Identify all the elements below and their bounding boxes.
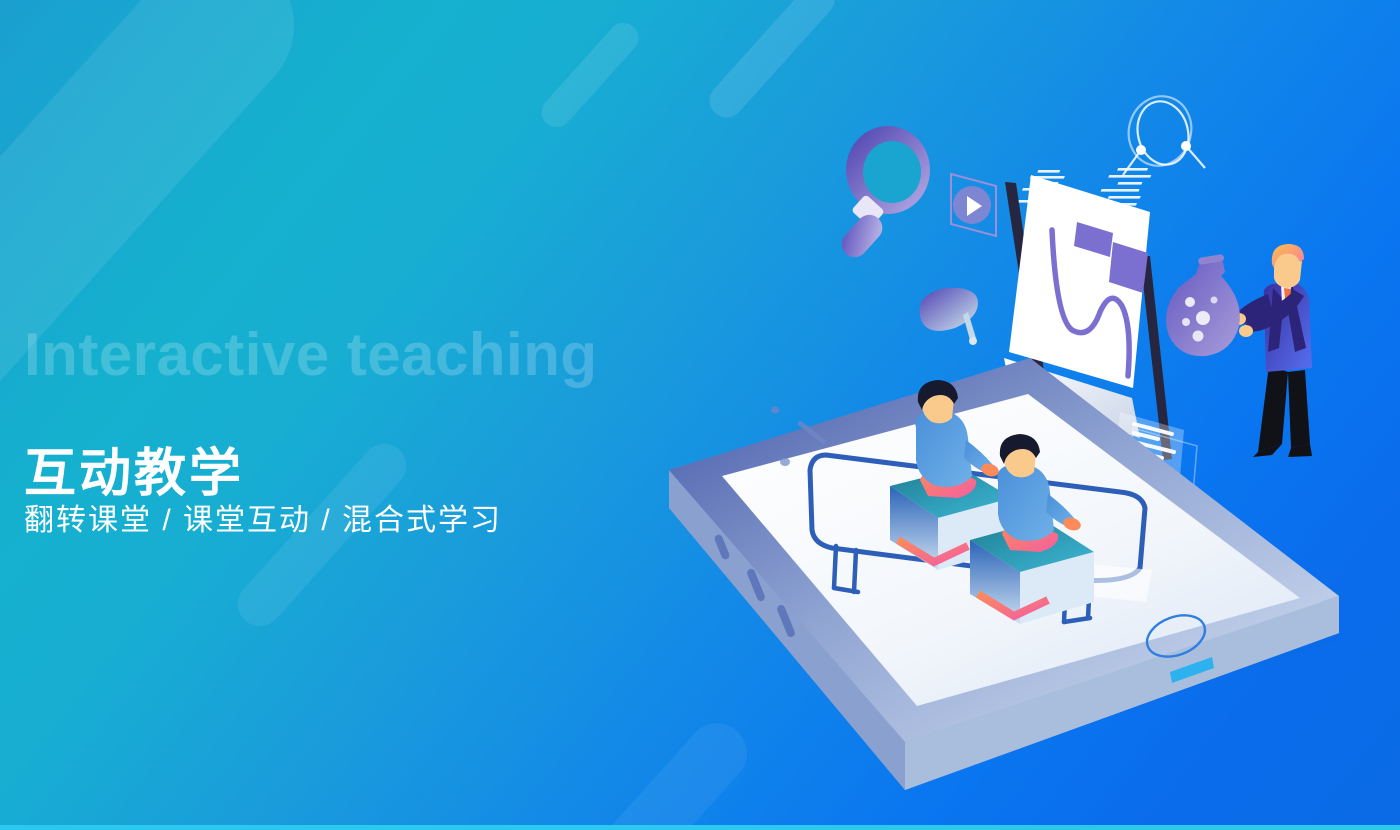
desk-back xyxy=(970,520,1094,624)
student-front xyxy=(915,380,1000,498)
chat-bubble-icon xyxy=(1116,412,1197,510)
play-button-icon xyxy=(951,174,996,236)
atom-text-lines-left xyxy=(1014,170,1065,203)
decorative-stripe-5 xyxy=(501,711,760,830)
student-back xyxy=(997,434,1082,552)
ghost-title: Interactive teaching xyxy=(24,325,598,385)
decorative-stripe-3 xyxy=(702,0,841,125)
atom-node-right xyxy=(1181,141,1191,151)
atom-network-icon xyxy=(1121,89,1205,175)
teacher-with-flask xyxy=(1166,244,1312,457)
graduation-cap-icon xyxy=(920,288,979,345)
desk-front xyxy=(890,468,1012,570)
whiteboard-easel xyxy=(1004,175,1172,460)
atom-text-lines-right xyxy=(1092,168,1151,213)
hero-banner: Interactive teaching 互动教学 翻转课堂 / 课堂互动 / … xyxy=(0,0,1400,830)
page-subtitle: 翻转课堂 / 课堂互动 / 混合式学习 xyxy=(24,495,502,539)
tablet-device xyxy=(669,358,1340,790)
classroom-table xyxy=(810,455,1145,581)
home-button xyxy=(1141,608,1210,664)
decorative-stripe-2 xyxy=(535,17,644,134)
bottom-accent-bar xyxy=(0,825,1400,830)
magnifier-icon xyxy=(836,126,930,263)
atom-node-left xyxy=(1136,145,1146,155)
